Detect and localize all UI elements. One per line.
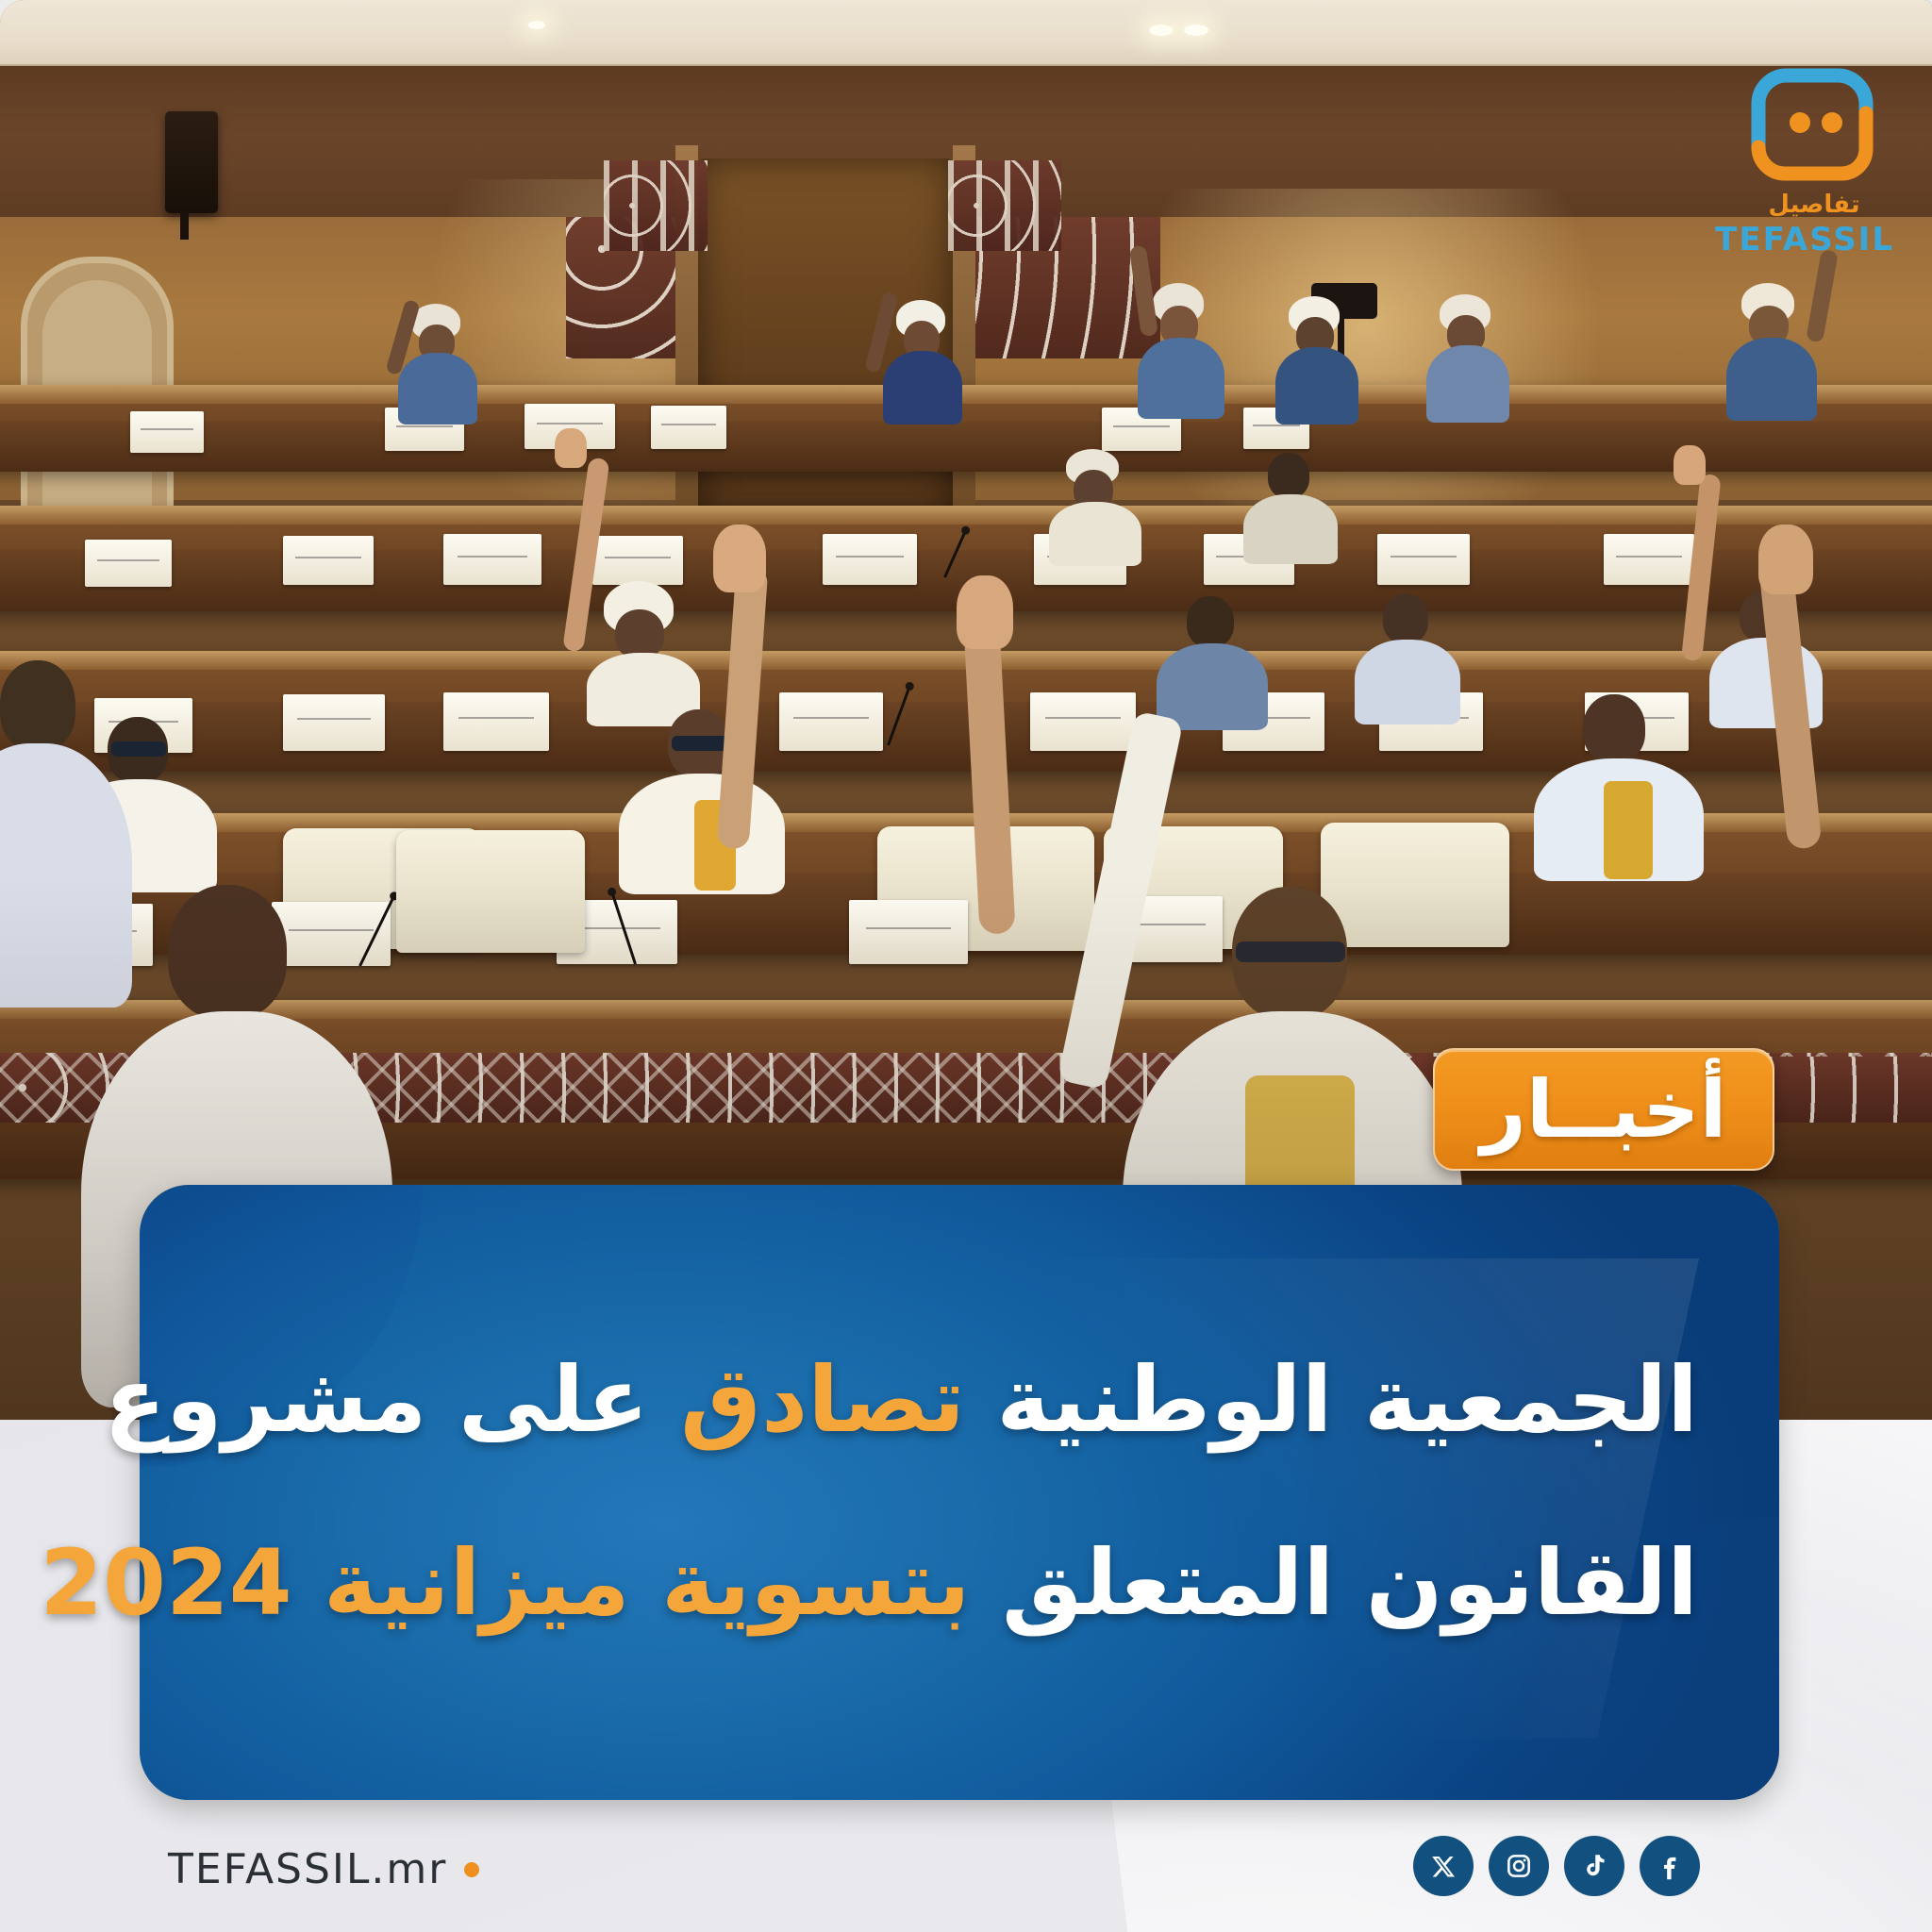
headline-card: الجمعية الوطنية تصادق على مشروع القانون … [140, 1185, 1779, 1800]
headline-line-1: الجمعية الوطنية تصادق على مشروع [221, 1353, 1698, 1449]
headline-l1-part1: الجمعية الوطنية [965, 1347, 1698, 1453]
news-graphic-canvas: تفاصيل TEFASSIL أخبــار الجمعية الوطنية … [0, 0, 1932, 1932]
headline-l1-part2: على مشروع [104, 1347, 680, 1453]
facebook-icon[interactable] [1640, 1836, 1700, 1896]
news-category-badge[interactable]: أخبــار [1433, 1048, 1774, 1171]
logo-name-english: TEFASSIL [1734, 221, 1894, 258]
x-twitter-icon[interactable] [1413, 1836, 1474, 1896]
bullet-icon [464, 1862, 479, 1877]
headline-l2-highlight: بتسوية ميزانية 2024 [40, 1530, 970, 1636]
tefassil-logo[interactable]: تفاصيل TEFASSIL [1734, 58, 1894, 262]
headline-l2-part1: القانون المتعلق [970, 1530, 1698, 1636]
social-links [1413, 1836, 1700, 1896]
site-url[interactable]: TEFASSIL.mr [168, 1845, 479, 1893]
headline-text-block: الجمعية الوطنية تصادق على مشروع القانون … [140, 1185, 1779, 1800]
news-badge-label: أخبــار [1481, 1070, 1727, 1149]
tiktok-icon[interactable] [1564, 1836, 1624, 1896]
tefassil-speech-bubble-icon [1741, 58, 1883, 191]
logo-name-arabic: تفاصيل [1734, 191, 1894, 219]
footer-bar: TEFASSIL.mr [0, 1800, 1932, 1932]
site-url-label: TEFASSIL.mr [168, 1845, 447, 1893]
instagram-icon[interactable] [1489, 1836, 1549, 1896]
headline-line-2: القانون المتعلق بتسوية ميزانية 2024 [221, 1536, 1698, 1632]
headline-l1-highlight: تصادق [680, 1347, 965, 1453]
